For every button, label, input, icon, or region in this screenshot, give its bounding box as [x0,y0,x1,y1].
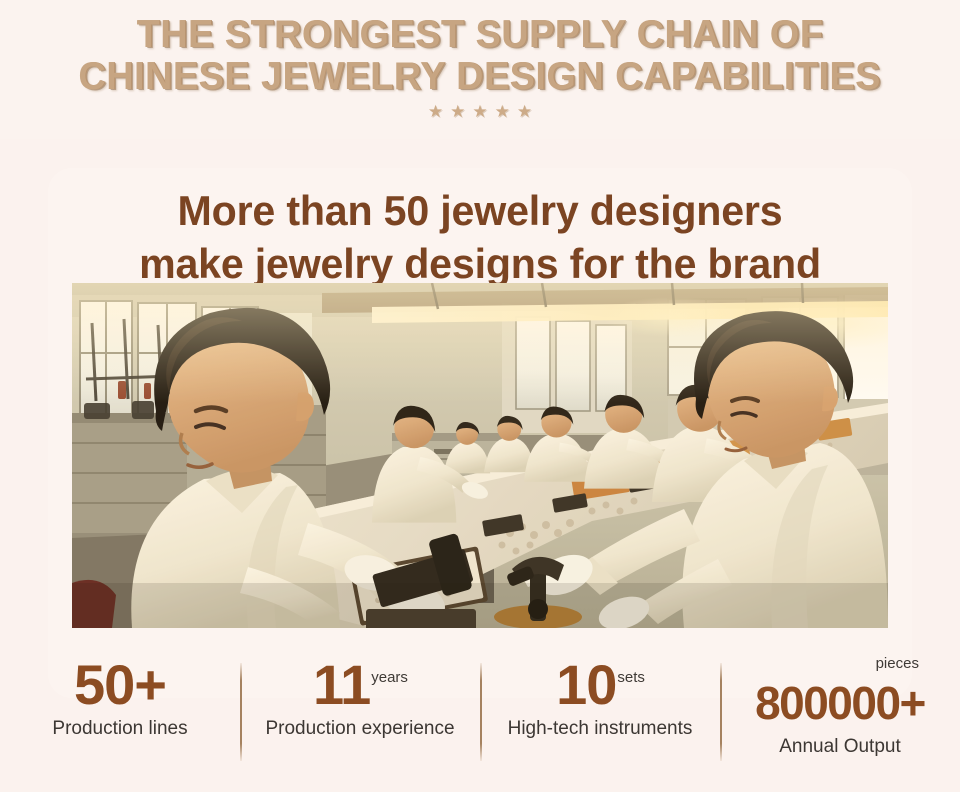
stat-number-group: 10sets [556,655,644,715]
factory-photo-illustration [72,283,888,628]
banner-header: THE STRONGEST SUPPLY CHAIN OF CHINESE JE… [0,0,960,139]
stat-unit: sets [617,669,645,686]
star-rating-icon: ★★★★★ [421,102,539,122]
stat-production-experience: 11years Production experience [240,655,480,775]
header-title-line-1: THE STRONGEST SUPPLY CHAIN OF [137,14,824,56]
stat-unit: years [371,669,408,686]
card-headline: More than 50 jewelry designers make jewe… [48,184,912,290]
stat-label: Annual Output [720,735,960,759]
header-title-line-2: CHINESE JEWELRY DESIGN CAPABILITIES [79,56,881,98]
stat-label: High-tech instruments [480,717,720,741]
stat-high-tech-instruments: 10sets High-tech instruments [480,655,720,775]
stats-row: 50+ Production lines 11years Production … [0,655,960,775]
stat-value: 50+ [74,653,166,716]
stat-value: 800000+ [755,677,925,729]
content-card: More than 50 jewelry designers make jewe… [48,168,912,698]
stat-number-group: 11years [313,655,407,715]
stat-number-group: pieces 800000+ [755,655,925,733]
stat-label: Production experience [240,717,480,741]
promotional-banner: THE STRONGEST SUPPLY CHAIN OF CHINESE JE… [0,0,960,792]
stat-production-lines: 50+ Production lines [0,655,240,775]
stat-value: 10 [556,653,616,716]
stat-number-group: 50+ [74,655,166,715]
stat-annual-output: pieces 800000+ Annual Output [720,655,960,775]
factory-photo [72,283,888,628]
stat-unit: pieces [755,655,925,673]
card-headline-line-1: More than 50 jewelry designers [57,184,904,237]
stat-value: 11 [313,653,370,716]
stat-label: Production lines [0,717,240,741]
